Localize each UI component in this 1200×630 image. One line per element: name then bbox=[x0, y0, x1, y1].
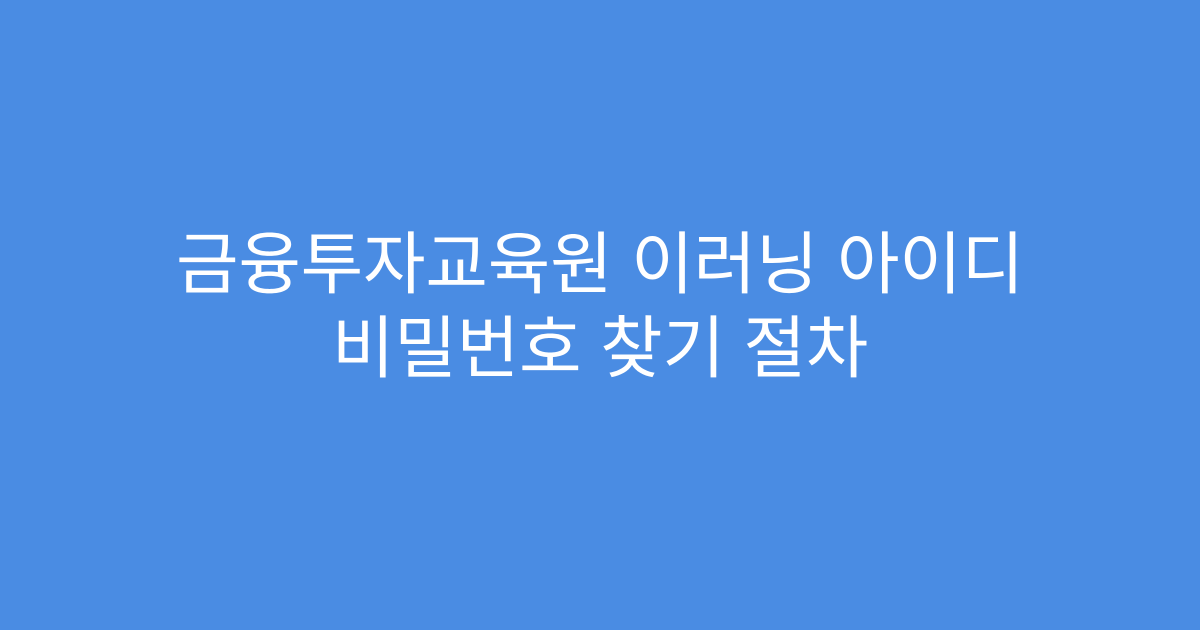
title-line-2: 비밀번호 찾기 절차 bbox=[100, 307, 1100, 391]
page-title: 금융투자교육원 이러닝 아이디 비밀번호 찾기 절차 bbox=[80, 223, 1120, 391]
title-line-1: 금융투자교육원 이러닝 아이디 bbox=[100, 223, 1100, 307]
og-card: 금융투자교육원 이러닝 아이디 비밀번호 찾기 절차 bbox=[0, 0, 1200, 630]
